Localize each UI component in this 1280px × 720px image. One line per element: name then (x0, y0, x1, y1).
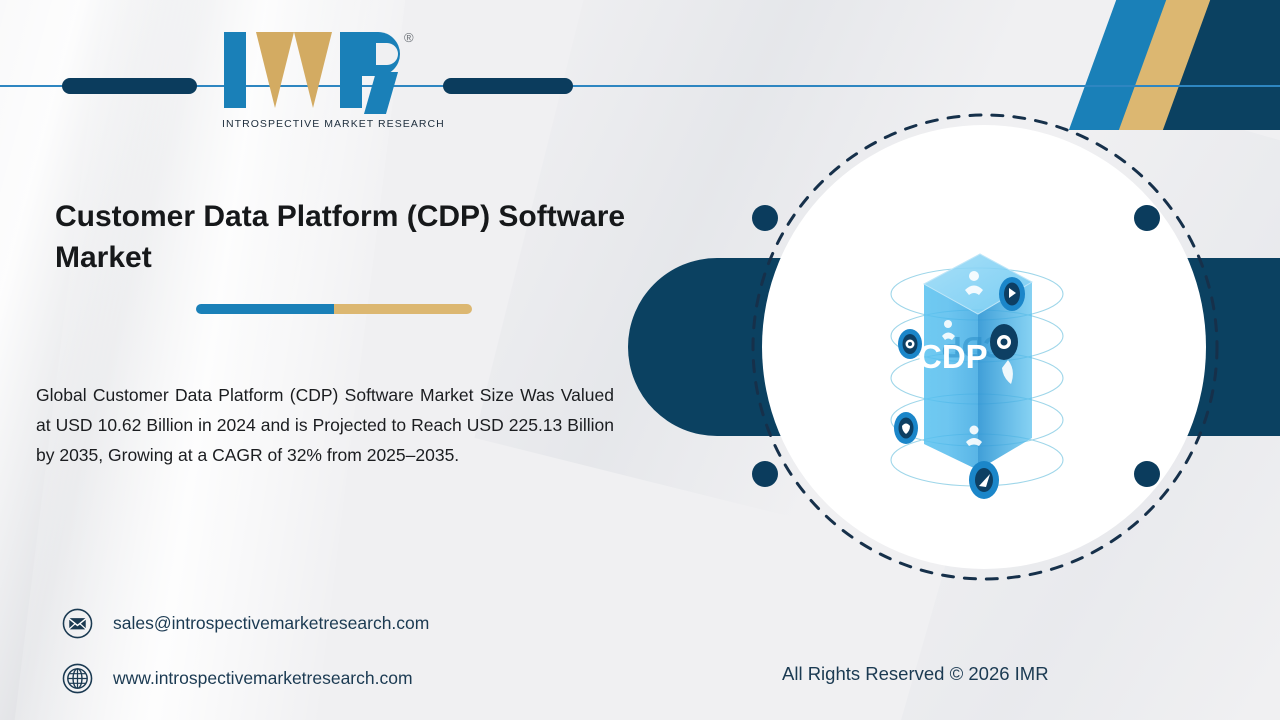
orbit-dot-top-left (752, 205, 778, 231)
accent-bar-blue-segment (196, 304, 334, 314)
orbit-dot-bottom-right (1134, 461, 1160, 487)
contact-email-text[interactable]: sales@introspectivemarketresearch.com (113, 613, 429, 634)
cdp-cube-label: CDP (918, 338, 988, 375)
badge-speed-icon (969, 461, 999, 499)
page-title: Customer Data Platform (CDP) Software Ma… (55, 196, 695, 279)
orbit-dot-top-right (1134, 205, 1160, 231)
logo-m-right-stroke-icon (294, 32, 332, 108)
contact-website-text[interactable]: www.introspectivemarketresearch.com (113, 668, 413, 689)
badge-settings-icon (990, 324, 1018, 360)
contact-email-row[interactable]: sales@introspectivemarketresearch.com (62, 608, 429, 639)
envelope-icon (62, 608, 93, 639)
report-cover-page: ® INTROSPECTIVE MARKET RESEARCH Customer… (0, 0, 1280, 720)
logo-wordmark: INTROSPECTIVE MARKET RESEARCH (222, 118, 422, 130)
logo-letter-m-icon (256, 32, 332, 108)
logo-letterforms: ® (222, 26, 422, 110)
header-bar-left (62, 78, 197, 94)
logo-letter-r-icon (340, 32, 402, 108)
contact-website-row[interactable]: www.introspectivemarketresearch.com (62, 663, 413, 694)
logo-r-leg-icon (364, 72, 398, 114)
logo-m-left-stroke-icon (256, 32, 294, 108)
logo-r-counter-icon (376, 43, 398, 65)
market-summary-text: Global Customer Data Platform (CDP) Soft… (36, 380, 614, 470)
registered-trademark-symbol: ® (404, 30, 414, 45)
cdp-cube-illustration: CDP CDP (862, 232, 1092, 502)
header-bar-right (443, 78, 573, 94)
title-accent-bar (196, 304, 472, 314)
badge-gear-icon (999, 277, 1025, 311)
logo-letter-i-icon (224, 32, 246, 108)
copyright-notice: All Rights Reserved © 2026 IMR (782, 663, 1049, 685)
accent-bar-gold-segment (334, 304, 472, 314)
badge-heart-icon (894, 412, 918, 444)
logo-r-bowl-icon (354, 32, 400, 76)
orbit-dot-bottom-left (752, 461, 778, 487)
badge-chart-icon (898, 329, 922, 359)
imr-logo: ® INTROSPECTIVE MARKET RESEARCH (222, 26, 422, 138)
globe-icon (62, 663, 93, 694)
